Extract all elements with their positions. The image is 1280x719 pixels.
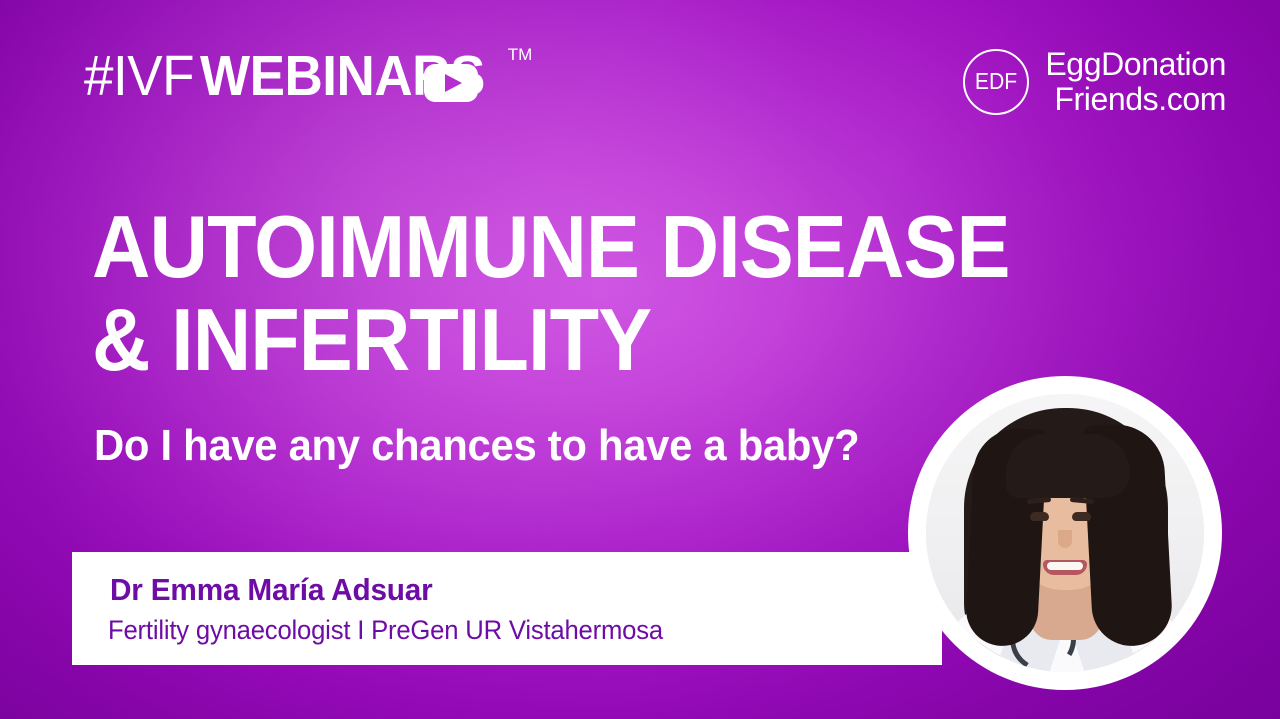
speaker-name: Dr Emma María Adsuar <box>110 572 433 608</box>
play-triangle-icon <box>445 74 462 92</box>
portrait-eye-left <box>1030 512 1049 521</box>
title-line-2: & INFERTILITY <box>92 293 1010 386</box>
page-subtitle: Do I have any chances to have a baby? <box>94 420 859 472</box>
portrait-photo-mask <box>926 394 1204 672</box>
edf-name-line-2: Friends.com <box>1045 83 1226 115</box>
portrait-eye-right <box>1072 512 1091 521</box>
egg-donation-friends-logo[interactable]: EDF EggDonation Friends.com <box>963 48 1226 115</box>
portrait-mouth <box>1043 560 1087 575</box>
speaker-credentials: Fertility gynaecologist I PreGen UR Vist… <box>108 614 663 646</box>
play-button-icon[interactable] <box>424 64 478 102</box>
title-line-1: AUTOIMMUNE DISEASE <box>92 200 1010 293</box>
portrait-teeth <box>1047 562 1083 570</box>
edf-circle-icon: EDF <box>963 49 1029 115</box>
webinar-title-slide: #IVF WEBINARS TM EDF EggDonation Friends… <box>0 0 1280 719</box>
speaker-banner: Dr Emma María Adsuar Fertility gynaecolo… <box>72 552 942 665</box>
edf-name-line-1: EggDonation <box>1045 48 1226 80</box>
trademark-symbol: TM <box>508 46 533 63</box>
edf-wordmark: EggDonation Friends.com <box>1045 48 1226 115</box>
portrait-fringe <box>1006 434 1130 498</box>
page-title: AUTOIMMUNE DISEASE & INFERTILITY <box>92 200 1089 386</box>
speaker-portrait <box>908 376 1222 690</box>
logo-text-ivf: #IVF <box>84 48 194 105</box>
portrait-photo <box>926 394 1204 672</box>
portrait-nose <box>1058 530 1072 548</box>
edf-monogram: EDF <box>975 68 1017 95</box>
